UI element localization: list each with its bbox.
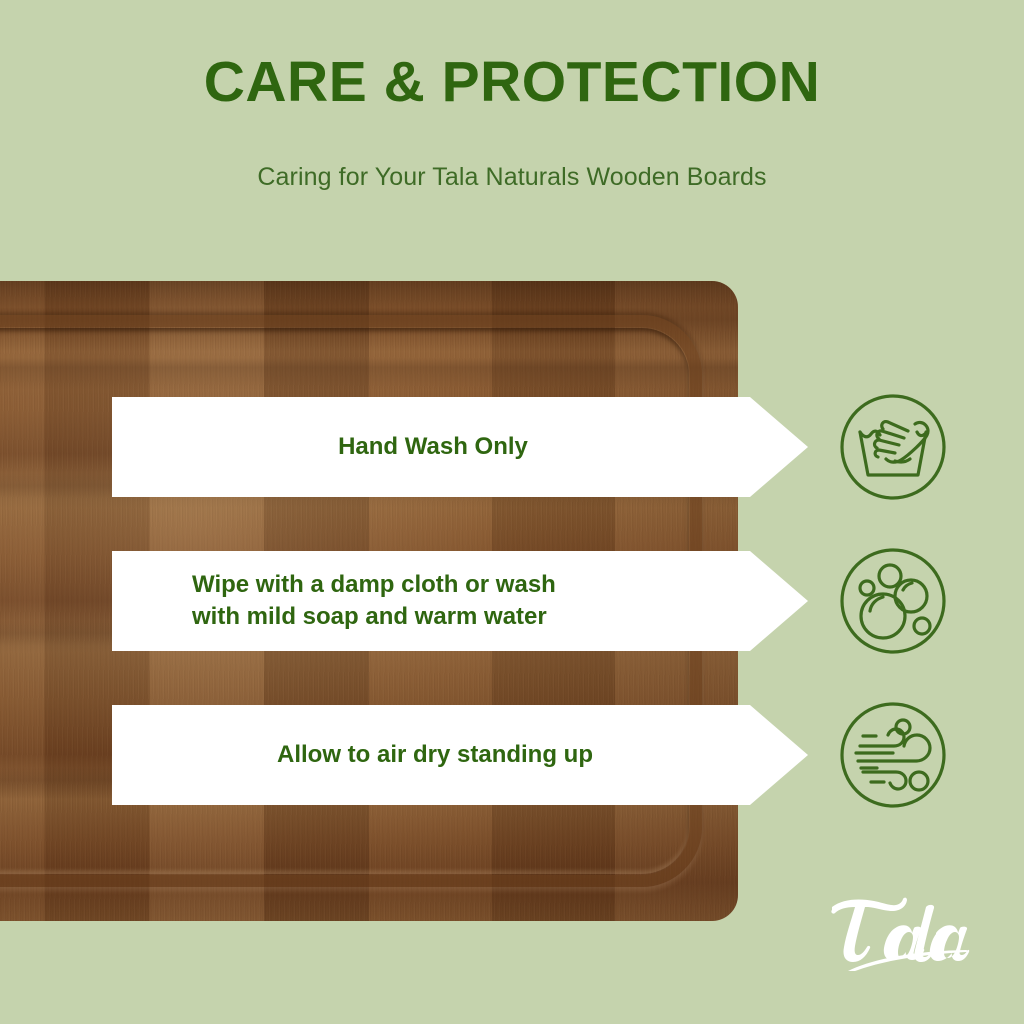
air-dry-wind-icon bbox=[837, 699, 949, 811]
care-step-text: Hand Wash Only bbox=[112, 431, 808, 463]
care-step-banner: Hand Wash Only bbox=[112, 397, 808, 497]
infographic-page: CARE & PROTECTION Caring for Your Tala N… bbox=[0, 0, 1024, 1024]
care-step-banner: Wipe with a damp cloth or wash with mild… bbox=[112, 551, 808, 651]
care-step-banner: Allow to air dry standing up bbox=[112, 705, 808, 805]
care-step-text: Wipe with a damp cloth or wash with mild… bbox=[112, 569, 556, 632]
board-top-edge bbox=[0, 281, 738, 307]
hand-wash-icon bbox=[837, 391, 949, 503]
page-title: CARE & PROTECTION bbox=[0, 54, 1024, 111]
care-step-text: Allow to air dry standing up bbox=[112, 739, 808, 771]
header: CARE & PROTECTION Caring for Your Tala N… bbox=[0, 54, 1024, 192]
tala-logo bbox=[818, 893, 970, 971]
page-subtitle: Caring for Your Tala Naturals Wooden Boa… bbox=[0, 163, 1024, 192]
soap-bubbles-icon bbox=[837, 545, 949, 657]
